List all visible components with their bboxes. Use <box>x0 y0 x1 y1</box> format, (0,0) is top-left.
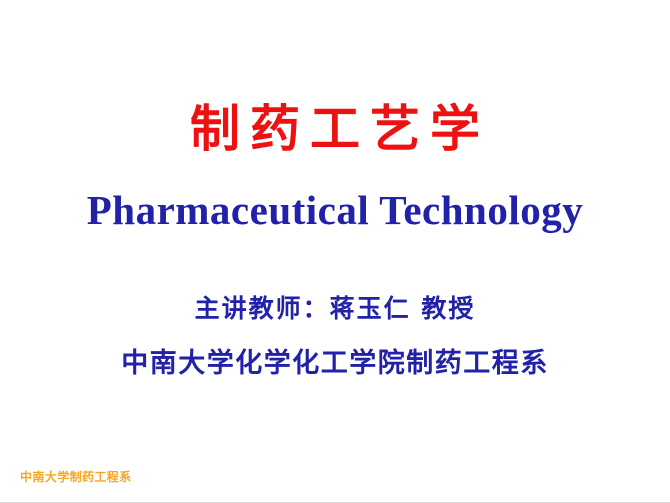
slide-footer-label: 中南大学制药工程系 <box>20 468 132 485</box>
slide-title-chinese: 制药工艺学 <box>0 98 670 160</box>
slide-title-english: Pharmaceutical Technology <box>0 186 670 234</box>
slide-subtitle-block: 主讲教师：蒋玉仁 教授 中南大学化学化工学院制药工程系 <box>0 292 670 382</box>
presentation-title-slide: 制药工艺学 Pharmaceutical Technology 主讲教师：蒋玉仁… <box>0 0 670 503</box>
subtitle-instructor: 主讲教师：蒋玉仁 教授 <box>0 292 670 326</box>
subtitle-department: 中南大学化学化工学院制药工程系 <box>0 346 670 382</box>
